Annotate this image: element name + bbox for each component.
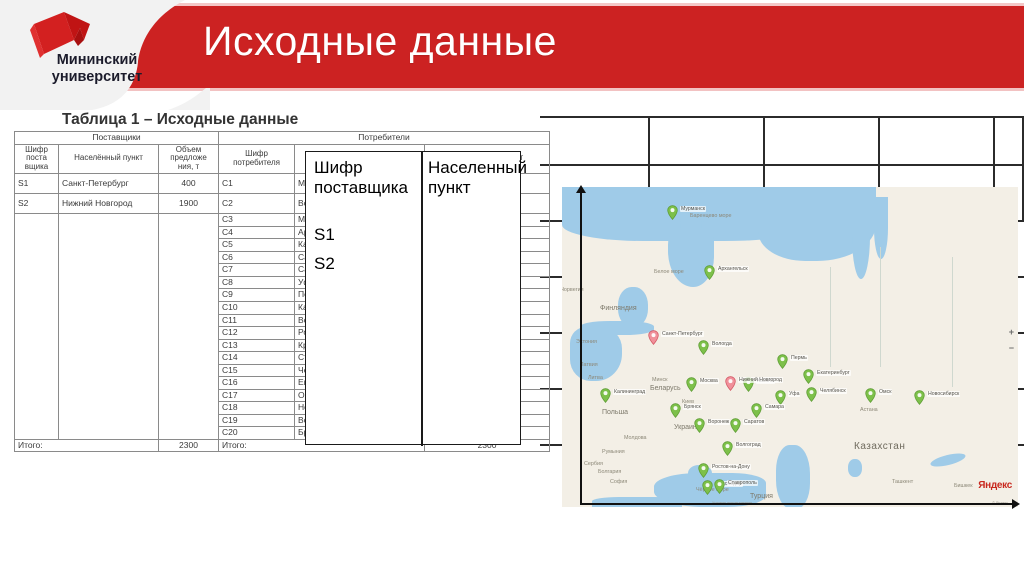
- td-consumer-code: C2: [219, 194, 295, 214]
- map-pin-icon: [777, 354, 788, 369]
- map-pin-label: Омск: [878, 389, 892, 395]
- td-consumer-code: C18: [219, 402, 295, 415]
- callout-value-s2: S2: [314, 251, 418, 276]
- map-pin-label: Мурманск: [680, 206, 706, 212]
- map-region-label: Молдова: [624, 435, 647, 441]
- map-region-label: Бишкек: [954, 483, 973, 489]
- table-caption: Таблица 1 – Исходные данные: [62, 111, 298, 129]
- sea-mediterranean: [592, 497, 682, 507]
- map-pin-icon: [806, 387, 817, 402]
- map-pin-label: Самара: [764, 404, 785, 410]
- map-pin-icon: [865, 388, 876, 403]
- td-supplier-city: Санкт-Петербург: [59, 174, 159, 194]
- map-zoom-in-button[interactable]: +: [1009, 327, 1014, 337]
- axis-arrow-up-icon: [576, 185, 586, 193]
- map-pin-label: Вологда: [711, 341, 733, 347]
- river-3: [952, 257, 953, 387]
- td-consumer-code: C1: [219, 174, 295, 194]
- map-region-label: Баренцево море: [690, 213, 732, 219]
- grid-line-vertical: [1022, 116, 1024, 220]
- td-consumer-code: C14: [219, 352, 295, 365]
- map-zoom-out-button[interactable]: −: [1009, 343, 1014, 353]
- yandex-map[interactable]: ФинляндияКазахстанУкраинаБеларусьПольшаБ…: [562, 187, 1018, 507]
- td-consumer-code: C3: [219, 214, 295, 227]
- map-pin-label: Ростов-на-Дону: [711, 464, 751, 470]
- td-consumer-code: C9: [219, 289, 295, 302]
- map-pin-icon: [914, 390, 925, 405]
- sea-baltic: [570, 327, 622, 381]
- table-group-header-row: ПоставщикиПотребители: [15, 132, 550, 145]
- map-pin-icon: [667, 205, 678, 220]
- map-pin-label: Ставрополь: [727, 480, 758, 486]
- map-region-label: Румыния: [602, 449, 625, 455]
- td-supplier-empty-volume: [159, 214, 219, 439]
- map-pin-icon: [698, 340, 709, 355]
- td-suppliers-total-label: Итого:: [15, 439, 159, 452]
- map-region-label: Литва: [588, 375, 603, 381]
- grid-line-horizontal: [540, 164, 1024, 166]
- callout-value-s1: S1: [314, 222, 418, 247]
- map-pin-icon: [803, 369, 814, 384]
- map-pin-label: Москва: [699, 378, 719, 384]
- map-pin-icon: [698, 463, 709, 478]
- th-supplier-city: Населённый пункт: [59, 144, 159, 174]
- group-suppliers: Поставщики: [15, 132, 219, 145]
- callout-column-right: Населенный пункт: [428, 158, 520, 198]
- td-supplier-city: Нижний Новгород: [59, 194, 159, 214]
- td-consumer-code: C17: [219, 389, 295, 402]
- map-pin-label: Воронеж: [707, 419, 730, 425]
- group-consumers: Потребители: [219, 132, 550, 145]
- td-supplier-volume: 400: [159, 174, 219, 194]
- map-region-label: Казахстан: [854, 441, 905, 452]
- map-region-label: Астана: [860, 407, 878, 413]
- map-pin-label: Саратов: [743, 419, 765, 425]
- callout-divider: [421, 152, 423, 446]
- map-region-label: Латвия: [580, 362, 598, 368]
- map-pin-icon: [600, 388, 611, 403]
- map-pin-label: Калининград: [613, 389, 646, 395]
- map-region-label: Болгария: [598, 469, 621, 475]
- callout-column-left: Шифр поставщика S1 S2: [314, 158, 418, 276]
- map-pin-label: Брянск: [683, 404, 702, 410]
- map-pin-icon: [775, 390, 786, 405]
- th-supplier-volume: Объем предложе ния, т: [159, 144, 219, 174]
- callout-col2-header: Населенный пункт: [428, 158, 520, 198]
- lake-balkhash: [929, 451, 966, 469]
- map-pin-icon: [702, 480, 713, 495]
- map-pin-icon: [648, 330, 659, 345]
- map-pin-label: Волгоград: [735, 442, 762, 448]
- td-supplier-empty-city: [59, 214, 159, 439]
- map-region-label: Беларусь: [650, 385, 681, 392]
- grid-line-horizontal: [540, 116, 1024, 118]
- map-pin-label: Архангельск: [717, 266, 749, 272]
- td-consumer-code: C15: [219, 364, 295, 377]
- sea-ob-bay: [852, 193, 870, 279]
- annotation-callout: Шифр поставщика S1 S2 Населенный пункт: [305, 151, 521, 445]
- logo-text: Мининский университет: [42, 52, 152, 86]
- td-consumer-code: C6: [219, 251, 295, 264]
- td-consumer-code: C11: [219, 314, 295, 327]
- map-pin-icon: [686, 377, 697, 392]
- map-region-label: Польша: [602, 409, 628, 416]
- axis-arrow-right-icon: [1012, 499, 1020, 509]
- td-supplier-code: S2: [15, 194, 59, 214]
- td-consumer-code: C13: [219, 339, 295, 352]
- map-region-label: Турция: [750, 493, 773, 500]
- map-pin-label: Санкт-Петербург: [661, 331, 704, 337]
- map-region-label: Белое море: [654, 269, 684, 275]
- th-supplier-code: Шифр поста вщика: [15, 144, 59, 174]
- map-pin-icon: [725, 376, 736, 391]
- map-pin-icon: [694, 418, 705, 433]
- td-consumer-code: C12: [219, 327, 295, 340]
- slide-canvas: Мининский университет Исходные данные Фи…: [0, 0, 1024, 574]
- map-pin-label: Новосибирск: [927, 391, 960, 397]
- university-logo: Мининский университет: [14, 8, 144, 96]
- td-consumer-code: C7: [219, 264, 295, 277]
- th-consumer-code: Шифр потребителя: [219, 144, 295, 174]
- river-2: [830, 267, 831, 367]
- map-pin-label: Екатеринбург: [816, 370, 851, 376]
- map-region-label: София: [610, 479, 627, 485]
- td-consumer-code: C19: [219, 414, 295, 427]
- td-suppliers-total-value: 2300: [159, 439, 219, 452]
- map-pin-label: Челябинск: [819, 388, 847, 394]
- td-consumer-code: C8: [219, 276, 295, 289]
- map-pin-icon: [704, 265, 715, 280]
- td-supplier-empty-code: [15, 214, 59, 439]
- callout-col1-header: Шифр поставщика: [314, 158, 418, 198]
- map-pin-icon: [670, 403, 681, 418]
- axis-vertical: [580, 190, 582, 505]
- td-consumer-code: C20: [219, 427, 295, 440]
- map-pin-icon: [751, 403, 762, 418]
- map-region-label: Ташкент: [892, 479, 913, 485]
- map-region-label: Минск: [652, 377, 668, 383]
- map-pin-icon: [714, 479, 725, 494]
- axis-horizontal: [580, 503, 1018, 505]
- td-supplier-code: S1: [15, 174, 59, 194]
- td-consumer-code: C4: [219, 226, 295, 239]
- map-pin-icon: [722, 441, 733, 456]
- td-consumer-code: C5: [219, 239, 295, 252]
- map-pin-label: Уфа: [788, 391, 800, 397]
- sea-caspian: [776, 445, 810, 507]
- map-pin-label: Нижний Новгород: [738, 377, 783, 383]
- yandex-logo[interactable]: Яндекс: [978, 480, 1012, 491]
- map-pin-icon: [730, 418, 741, 433]
- logo-line-1: Мининский: [42, 52, 152, 69]
- page-title: Исходные данные: [203, 18, 557, 65]
- logo-line-2: университет: [42, 69, 152, 86]
- map-pin-label: Пермь: [790, 355, 808, 361]
- river-1: [880, 247, 881, 367]
- lake-aral: [848, 459, 862, 477]
- td-consumer-code: C10: [219, 301, 295, 314]
- td-supplier-volume: 1900: [159, 194, 219, 214]
- td-consumer-code: C16: [219, 377, 295, 390]
- map-region-label: Сербия: [584, 461, 603, 467]
- map-region-label: Финляндия: [600, 305, 637, 312]
